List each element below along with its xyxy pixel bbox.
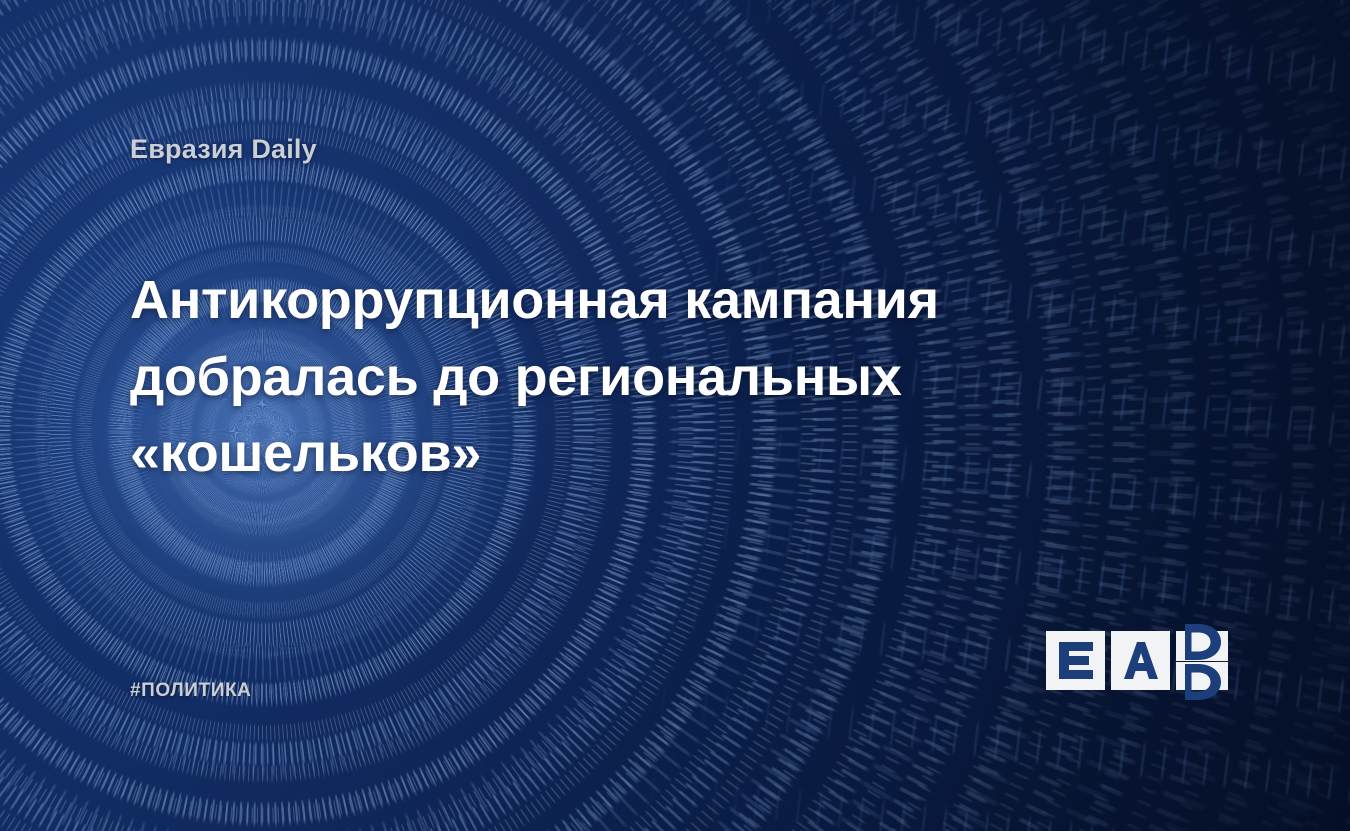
headline: Антикоррупционная кампания добралась до … bbox=[130, 262, 1010, 492]
logo-tile-a-background bbox=[1111, 631, 1170, 690]
logo-letter-e bbox=[1059, 642, 1093, 679]
headline-text: Антикоррупционная кампания добралась до … bbox=[130, 270, 939, 483]
eadaily-logo bbox=[1046, 620, 1228, 704]
site-name: Евразия Daily bbox=[130, 134, 317, 165]
news-share-card: Евразия Daily Антикоррупционная кампания… bbox=[0, 0, 1350, 831]
eadaily-logo-mark bbox=[1046, 620, 1228, 704]
category-hashtag: #ПОЛИТИКА bbox=[130, 680, 252, 702]
card-content: Евразия Daily Антикоррупционная кампания… bbox=[0, 0, 1350, 831]
